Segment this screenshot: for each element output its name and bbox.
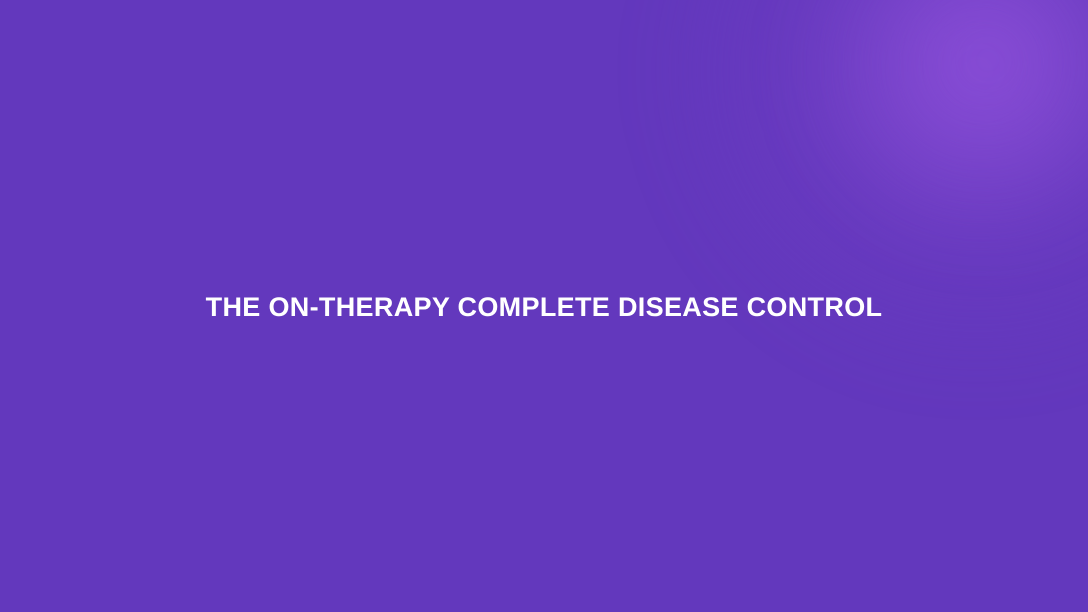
presentation-slide: THE ON-THERAPY COMPLETE DISEASE CONTROL [0,0,1088,612]
slide-headline: THE ON-THERAPY COMPLETE DISEASE CONTROL [206,291,883,323]
headline-container: THE ON-THERAPY COMPLETE DISEASE CONTROL [0,0,1088,612]
